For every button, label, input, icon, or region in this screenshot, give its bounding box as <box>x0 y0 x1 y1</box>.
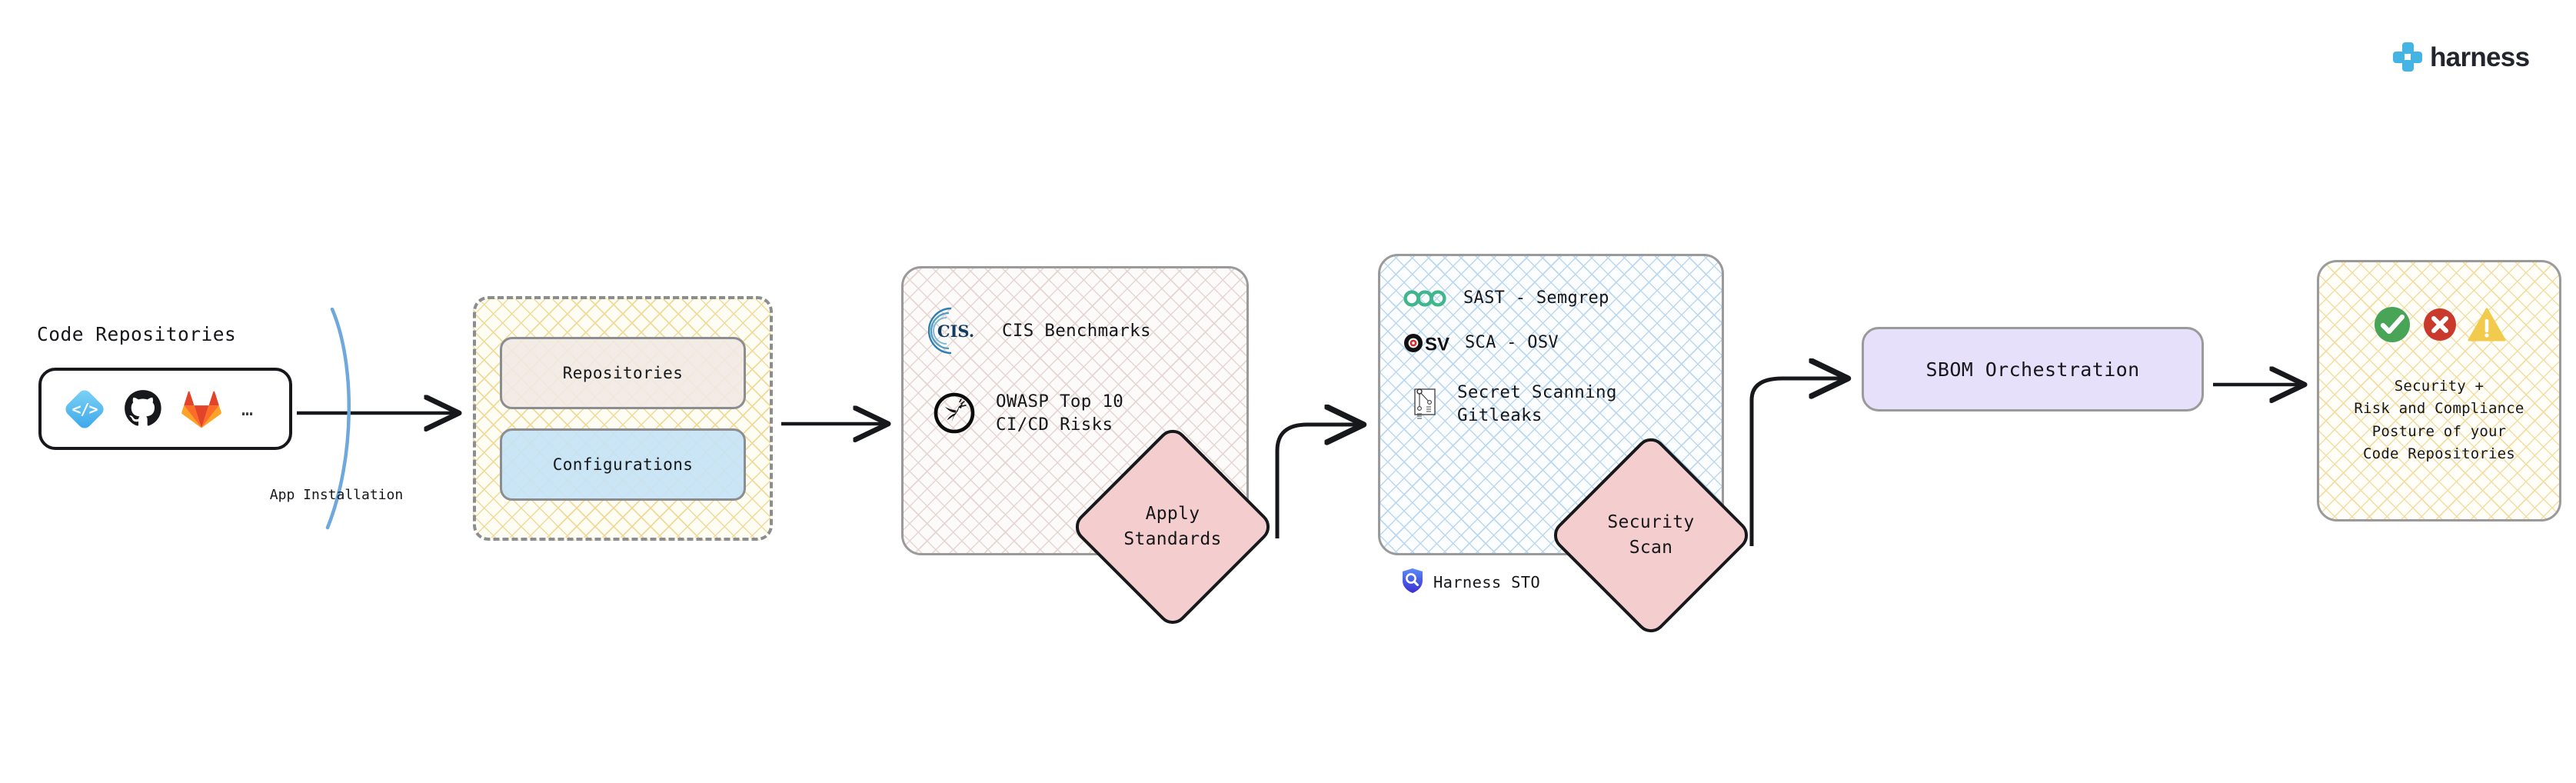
scan-row-sast-label: SAST - Semgrep <box>1463 287 1609 310</box>
code-repositories-label: Code Repositories <box>37 323 236 345</box>
warning-triangle-icon <box>2468 307 2506 345</box>
svg-text:SV: SV <box>1425 335 1449 355</box>
owasp-logo-icon <box>933 391 976 435</box>
chip-configurations[interactable]: Configurations <box>500 428 746 501</box>
standards-row-owasp-label: OWASP Top 10 CI/CD Risks <box>996 390 1123 437</box>
cis-logo-icon: CIS. <box>928 304 982 358</box>
x-circle-icon <box>2421 306 2458 346</box>
standards-row-owasp: OWASP Top 10 CI/CD Risks <box>928 390 1246 437</box>
outcome-box: Security + Risk and Compliance Posture o… <box>2317 260 2561 521</box>
code-repositories-box: </> … <box>38 368 292 450</box>
scan-row-sast: SAST - Semgrep <box>1403 287 1722 310</box>
harness-sto-caption: Harness STO <box>1401 568 1540 597</box>
harness-sto-label: Harness STO <box>1433 573 1540 591</box>
arrow-apply-standards-to-scan <box>1277 425 1361 538</box>
gitlab-icon[interactable] <box>181 389 221 429</box>
scan-row-secret-scanning: Secret Scanning Gitleaks <box>1403 381 1722 428</box>
apply-standards-diamond-shape <box>1070 424 1276 631</box>
chip-repositories[interactable]: Repositories <box>500 337 746 409</box>
github-icon[interactable] <box>123 389 163 429</box>
check-circle-icon <box>2372 305 2412 348</box>
arrow-security-scan-to-sbom <box>1752 378 1845 546</box>
standards-row-cis: CIS. CIS Benchmarks <box>928 304 1246 358</box>
scan-row-sca: SV SCA - OSV <box>1403 332 1722 355</box>
code-diamond-glyph: </> <box>65 389 105 429</box>
app-installation-label: App Installation <box>254 486 419 505</box>
gitleaks-logo-icon <box>1411 387 1439 421</box>
outcome-description: Security + Risk and Compliance Posture o… <box>2354 375 2524 466</box>
osv-logo-icon: SV <box>1403 332 1451 355</box>
configuration-container: Repositories Configurations <box>473 296 773 541</box>
scan-row-secret-label: Secret Scanning Gitleaks <box>1457 381 1617 428</box>
sbom-orchestration-box: SBOM Orchestration <box>1862 327 2204 411</box>
apply-standards-decision: Apply Standards <box>1100 454 1246 600</box>
scan-row-sca-label: SCA - OSV <box>1465 332 1559 355</box>
security-scan-decision: Security Scan <box>1578 462 1724 608</box>
svg-text:CIS.: CIS. <box>937 322 974 341</box>
semgrep-logo-icon <box>1403 287 1446 310</box>
outcome-status-icons <box>2372 305 2506 348</box>
standards-row-cis-label: CIS Benchmarks <box>1002 319 1151 342</box>
security-scan-diamond-shape <box>1548 432 1755 639</box>
code-diamond-icon[interactable]: </> <box>65 389 105 429</box>
more-providers-ellipsis: … <box>241 398 255 420</box>
harness-sto-shield-icon <box>1401 568 1424 597</box>
